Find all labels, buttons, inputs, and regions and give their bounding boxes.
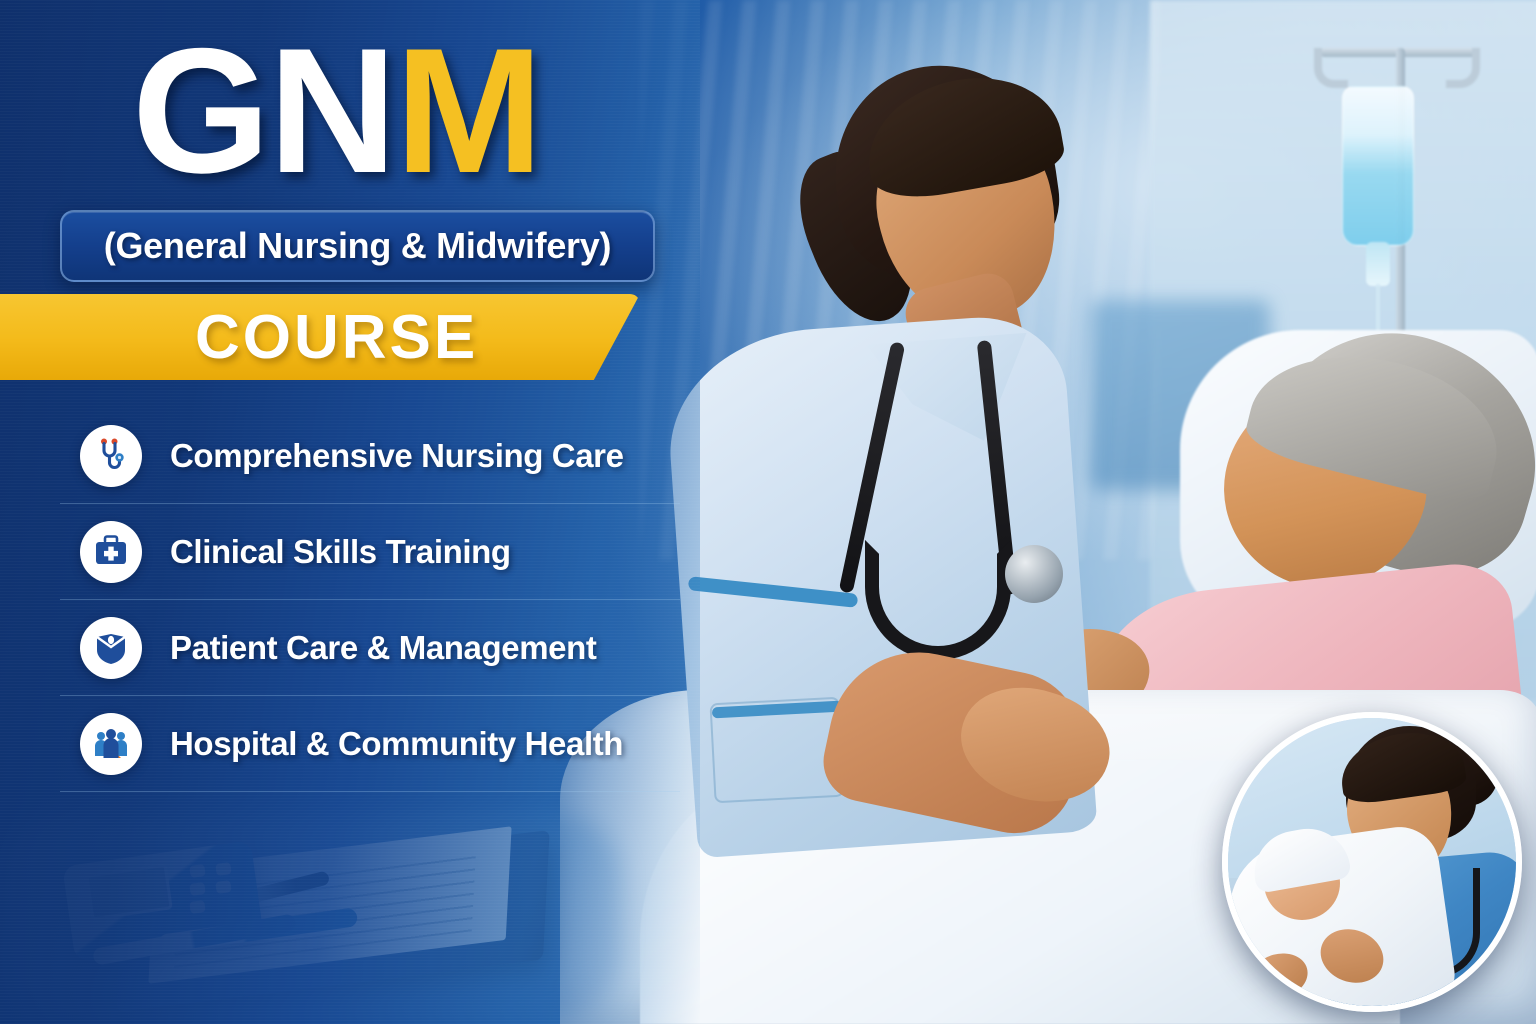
page-title: GNM [132, 22, 541, 200]
feature-item-clinical-skills[interactable]: Clinical Skills Training [60, 504, 680, 600]
feature-item-patient-care[interactable]: Patient Care & Management [60, 600, 680, 696]
medical-kit-icon [80, 521, 142, 583]
subtitle-text: (General Nursing & Midwifery) [104, 225, 611, 267]
stethoscope-chestpiece [1005, 545, 1063, 603]
feature-label: Clinical Skills Training [170, 533, 511, 571]
feature-list: Comprehensive Nursing Care Clinical Skil… [60, 408, 680, 792]
nurse-figure [660, 40, 1080, 860]
subtitle-badge: (General Nursing & Midwifery) [60, 210, 655, 282]
course-label: COURSE [195, 302, 478, 373]
shield-care-icon [80, 617, 142, 679]
feature-item-community-health[interactable]: Hospital & Community Health [60, 696, 680, 792]
title-m: M [395, 11, 541, 210]
feature-label: Comprehensive Nursing Care [170, 437, 624, 475]
feature-label: Hospital & Community Health [170, 725, 623, 763]
course-ribbon: COURSE [0, 294, 640, 380]
title-gn: GN [132, 11, 395, 210]
iv-fluid-bag [1342, 86, 1414, 246]
feature-label: Patient Care & Management [170, 629, 596, 667]
gnm-course-poster: GNM (General Nursing & Midwifery) COURSE… [0, 0, 1536, 1024]
iv-drip-stand-icon [1300, 28, 1490, 348]
community-group-icon [80, 713, 142, 775]
stethoscope-icon [80, 425, 142, 487]
feature-item-nursing-care[interactable]: Comprehensive Nursing Care [60, 408, 680, 504]
iv-drip-chamber [1366, 242, 1390, 286]
inset-photo-nurse-with-newborn [1222, 712, 1522, 1012]
iv-hook-left [1314, 48, 1348, 88]
iv-hook-right [1446, 48, 1480, 88]
